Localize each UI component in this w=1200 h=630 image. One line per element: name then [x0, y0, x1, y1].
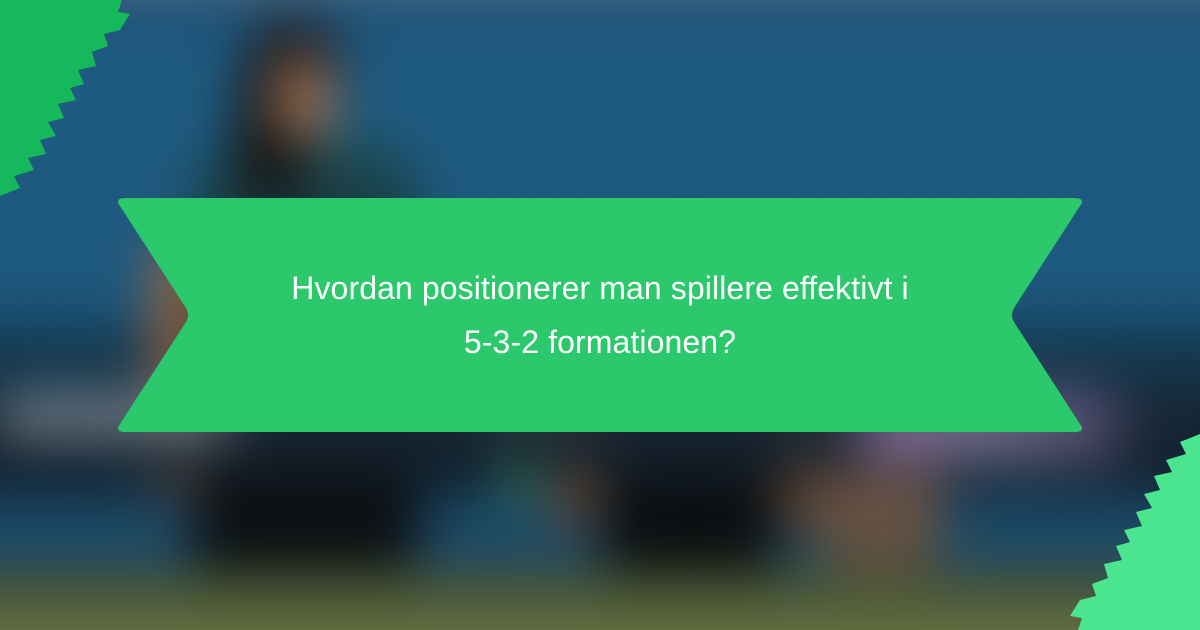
social-card: Hvordan positionerer man spillere effekt…: [0, 0, 1200, 630]
headline-text: Hvordan positionerer man spillere effekt…: [108, 198, 1092, 432]
headline-banner: Hvordan positionerer man spillere effekt…: [108, 198, 1092, 432]
pitch-grass: [0, 570, 1200, 630]
player-one-face: [274, 58, 336, 144]
